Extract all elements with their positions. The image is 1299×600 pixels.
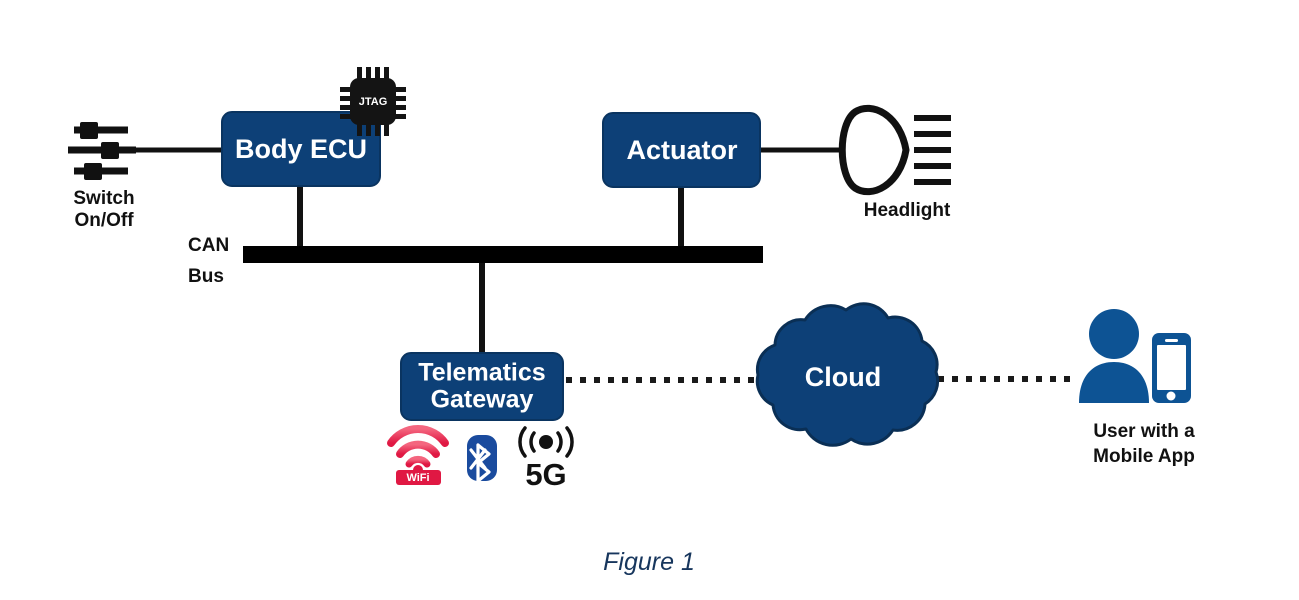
phone-screen [1157,345,1186,390]
phone-home-button [1167,392,1176,401]
chip-pin-top-2 [366,67,371,79]
chip-pin-bottom-4 [384,124,389,136]
architecture-diagram: CAN Bus Switch On/Off Body ECU [0,0,1299,600]
node-actuator[interactable]: Actuator [603,113,760,187]
user-head [1089,309,1139,359]
chip-pin-top-1 [357,67,362,79]
cloud-label: Cloud [805,362,881,392]
figure-caption: Figure 1 [603,548,695,576]
switch-label-line2: On/Off [74,210,134,231]
5g-signal-dot [539,435,553,449]
headlight-icon[interactable] [842,108,951,191]
jtag-chip-label: JTAG [359,96,388,108]
bluetooth-icon[interactable] [467,435,497,481]
chip-pin-bottom-2 [366,124,371,136]
body-ecu-label: Body ECU [235,134,367,164]
figure-container: CAN Bus Switch On/Off Body ECU [0,0,1299,600]
switch-label-line1: Switch [73,188,134,209]
switch-knob-1 [80,122,98,139]
switch-knob-3 [84,163,102,180]
cloud-node[interactable]: Cloud [757,304,937,445]
can-bus-bar [243,246,763,263]
5g-label: 5G [525,457,566,492]
chip-pin-bottom-1 [357,124,362,136]
chip-pin-top-4 [384,67,389,79]
headlight-lens [842,108,906,191]
telematics-gateway-label-line1: Telematics [418,359,545,387]
chip-pin-top-3 [375,67,380,79]
switch-icon[interactable] [68,122,136,180]
telematics-gateway-label-line2: Gateway [431,386,534,414]
diagram-background [0,0,1299,600]
node-telematics-gateway[interactable]: Telematics Gateway [401,353,563,420]
user-label-line2: Mobile App [1093,446,1195,467]
can-bus-label-line1: CAN [188,235,229,256]
headlight-label: Headlight [864,200,951,221]
user-label-line1: User with a [1093,421,1195,442]
actuator-label: Actuator [626,135,737,165]
phone-speaker [1165,339,1178,342]
chip-pin-bottom-3 [375,124,380,136]
can-bus-label-line2: Bus [188,266,224,287]
wifi-badge-label: WiFi [406,472,429,484]
switch-knob-2 [101,142,119,159]
